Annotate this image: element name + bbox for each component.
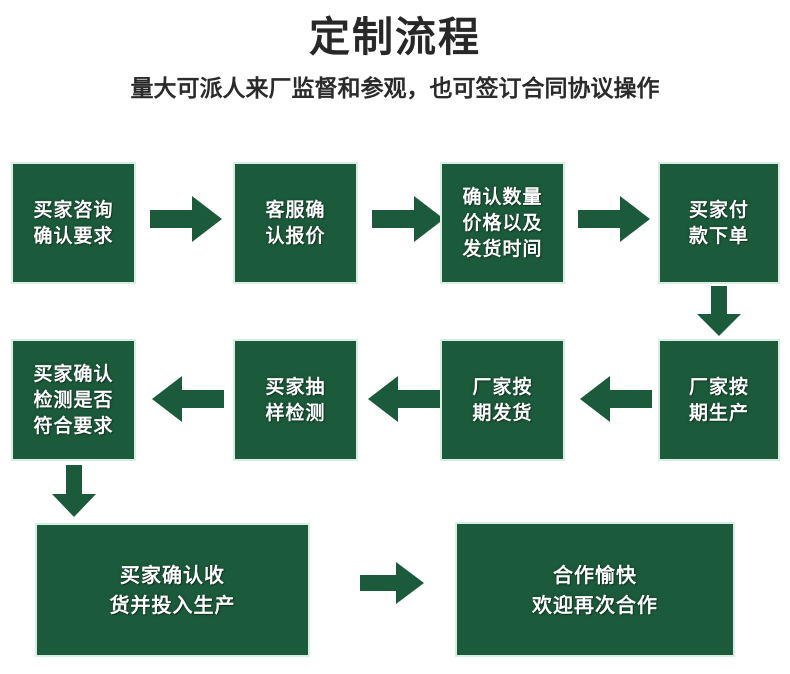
process-node-label: 确认数量 价格以及 发货时间 (462, 184, 542, 262)
process-node-label: 买家付 款下单 (689, 197, 749, 249)
process-node-label: 厂家按 期生产 (689, 374, 749, 426)
process-node-label: 买家咨询 确认要求 (33, 197, 113, 249)
process-node-label: 合作愉快 欢迎再次合作 (532, 560, 658, 620)
process-node-label: 买家确认收 货并投入生产 (110, 560, 236, 620)
process-node-buyer-payment: 买家付 款下单 (658, 162, 780, 284)
process-node-label: 买家抽 样检测 (265, 374, 325, 426)
arrow-right-icon (360, 562, 424, 604)
page-title: 定制流程 (0, 12, 790, 62)
page-subtitle: 量大可派人来厂监督和参观，也可签订合同协议操作 (0, 74, 790, 104)
arrow-down-icon (697, 286, 741, 336)
arrow-right-icon (372, 196, 444, 242)
flowchart-canvas: 定制流程 量大可派人来厂监督和参观，也可签订合同协议操作 买家咨询 确认要求 客… (0, 0, 790, 674)
arrow-left-icon (580, 376, 652, 422)
process-node-buyer-sample-check: 买家抽 样检测 (233, 339, 358, 461)
process-node-label: 客服确 认报价 (265, 197, 325, 249)
arrow-right-icon (150, 196, 222, 242)
process-node-happy-cooperation: 合作愉快 欢迎再次合作 (455, 522, 735, 657)
process-node-buyer-receive-goods: 买家确认收 货并投入生产 (35, 523, 310, 657)
arrow-right-icon (578, 196, 650, 242)
process-node-factory-production: 厂家按 期生产 (658, 339, 780, 461)
process-node-factory-shipping: 厂家按 期发货 (440, 339, 565, 461)
process-node-buyer-inquiry: 买家咨询 确认要求 (11, 162, 136, 284)
process-node-label: 厂家按 期发货 (472, 374, 532, 426)
process-node-buyer-confirm-inspection: 买家确认 检测是否 符合要求 (11, 339, 136, 461)
arrow-left-icon (368, 376, 440, 422)
process-node-service-quote: 客服确 认报价 (233, 162, 358, 284)
arrow-left-icon (152, 376, 224, 422)
process-node-label: 买家确认 检测是否 符合要求 (33, 361, 113, 439)
process-node-confirm-qty-price-date: 确认数量 价格以及 发货时间 (440, 162, 565, 284)
arrow-down-icon (52, 465, 96, 517)
